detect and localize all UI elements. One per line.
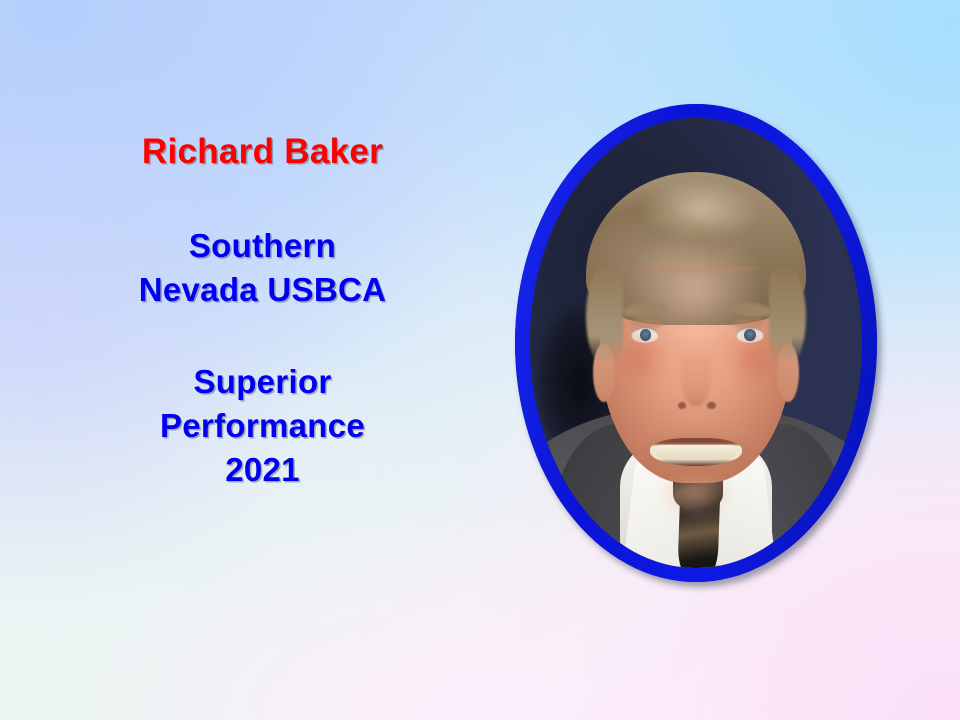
portrait-photo	[530, 118, 862, 568]
award-text-block: Richard Baker Southern Nevada USBCA Supe…	[60, 130, 465, 492]
award-slide: Richard Baker Southern Nevada USBCA Supe…	[0, 0, 960, 720]
nostril-right	[707, 402, 716, 410]
cheek-right	[729, 330, 782, 389]
award-line-1: Superior	[60, 360, 465, 404]
association-line-1: Southern	[60, 224, 465, 268]
association-block: Southern Nevada USBCA	[60, 224, 465, 312]
portrait-oval-frame	[515, 104, 877, 582]
association-line-2: Nevada USBCA	[60, 268, 465, 312]
honoree-name: Richard Baker	[60, 130, 465, 174]
nose	[681, 343, 711, 406]
chin-highlight	[659, 478, 732, 519]
award-year: 2021	[60, 448, 465, 492]
cheek-left	[613, 330, 666, 389]
award-line-2: Performance	[60, 404, 465, 448]
award-block: Superior Performance 2021	[60, 360, 465, 492]
teeth	[655, 445, 737, 460]
